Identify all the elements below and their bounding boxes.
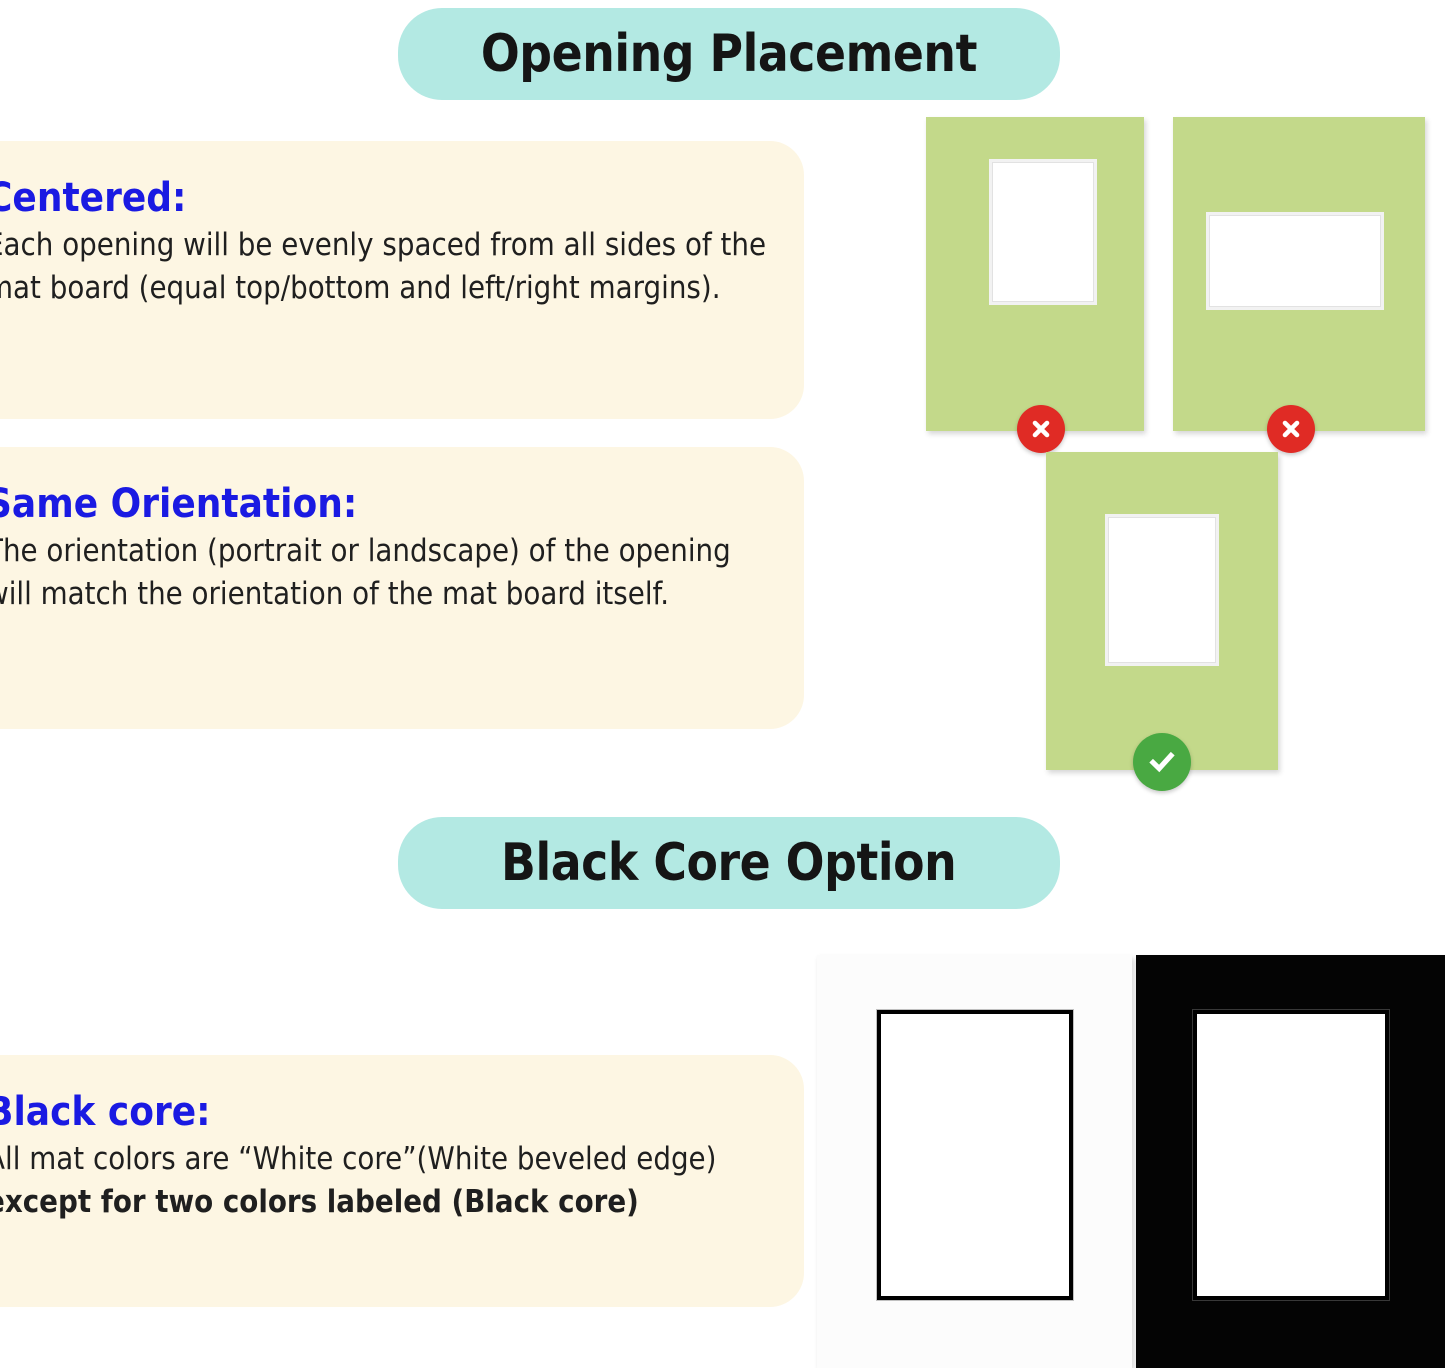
card-body-line-2: except for two colors labeled (Black cor…	[0, 1181, 778, 1224]
card-heading-black-core: Black core:	[0, 1089, 697, 1136]
banner-title-opening-placement: Opening Placement	[481, 24, 977, 84]
card-heading-same-orientation: Same Orientation:	[0, 481, 697, 528]
infographic-page: Opening Placement Centered: Each opening…	[0, 0, 1445, 1368]
status-badge-incorrect-2	[1267, 405, 1315, 453]
section-banner-opening-placement: Opening Placement	[398, 8, 1060, 100]
mat-opening	[1105, 514, 1219, 666]
card-heading-centered: Centered:	[0, 175, 697, 222]
info-card-same-orientation: Same Orientation: The orientation (portr…	[0, 447, 804, 729]
section-banner-black-core-option: Black Core Option	[398, 817, 1060, 909]
info-card-black-core: Black core: All mat colors are “White co…	[0, 1055, 804, 1307]
mat-opening-black-bevel	[1193, 1010, 1389, 1300]
mat-opening	[1206, 212, 1384, 310]
x-icon	[1278, 416, 1304, 442]
x-icon	[1028, 416, 1054, 442]
status-badge-correct	[1133, 733, 1191, 791]
mat-board-green-portrait-opening-centered	[1046, 452, 1278, 770]
banner-title-black-core-option: Black Core Option	[501, 833, 956, 893]
card-body-centered: Each opening will be evenly spaced from …	[0, 224, 778, 310]
mat-board-green-landscape-opening-offcenter	[1173, 117, 1425, 431]
info-card-centered: Centered: Each opening will be evenly sp…	[0, 141, 804, 419]
card-body-same-orientation: The orientation (portrait or landscape) …	[0, 530, 778, 616]
check-icon	[1145, 745, 1179, 779]
card-body-line-1: All mat colors are “White core”(White be…	[0, 1138, 778, 1181]
card-body-black-core: All mat colors are “White core”(White be…	[0, 1138, 778, 1224]
mat-board-green-portrait-opening-offcenter	[926, 117, 1144, 431]
mat-board-white-black-core	[817, 955, 1132, 1368]
mat-opening	[989, 159, 1097, 305]
mat-board-black-black-core	[1136, 955, 1445, 1368]
status-badge-incorrect-1	[1017, 405, 1065, 453]
mat-opening-black-bevel	[877, 1010, 1073, 1300]
